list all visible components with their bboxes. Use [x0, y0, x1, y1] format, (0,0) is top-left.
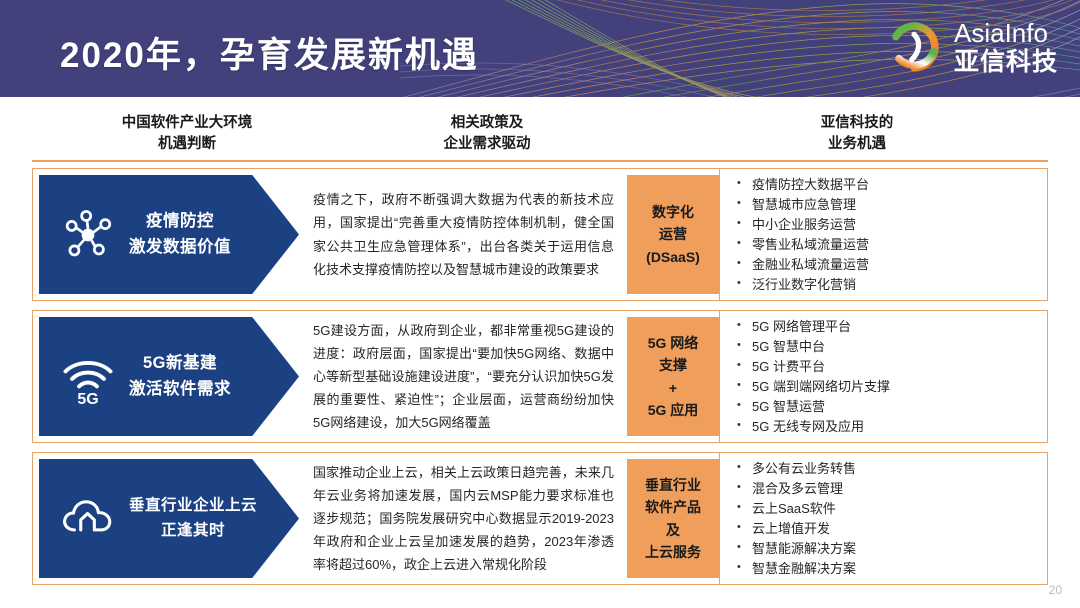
wifi-5g-icon: 5G [57, 346, 119, 408]
column-header-2: 相关政策及 企业需求驱动 [342, 113, 632, 155]
arrow-banner[interactable]: 疫情防控 激发数据价值 [39, 175, 299, 294]
opportunity-list-cell: 多公有云业务转售 混合及多云管理 云上SaaS软件 云上增值开发 智慧能源解决方… [719, 453, 1047, 584]
list-item: 中小企业服务运营 [736, 215, 1037, 235]
category-line: 垂直行业 [645, 474, 701, 496]
cloud-upload-icon [57, 488, 119, 550]
column-header-2-line2: 企业需求驱动 [342, 134, 632, 155]
list-item: 5G 端到端网络切片支撑 [736, 377, 1037, 397]
logo-name-cn: 亚信科技 [954, 50, 1058, 75]
arrow-label: 疫情防控 激发数据价值 [129, 209, 231, 260]
column-header-3-line1: 亚信科技的 [692, 113, 1022, 134]
category-line: 上云服务 [645, 541, 701, 563]
description-cell: 5G建设方面，从政府到企业，都非常重视5G建设的进度：政府层面，国家提出“要加快… [305, 311, 627, 442]
list-item: 智慧能源解决方案 [736, 539, 1037, 559]
list-item: 智慧城市应急管理 [736, 195, 1037, 215]
category-badge: 5G 网络 支撑 + 5G 应用 [627, 317, 719, 436]
category-line: 5G 网络 [648, 332, 699, 354]
arrow-label: 5G新基建 激活软件需求 [129, 351, 231, 402]
column-header-3-line2: 业务机遇 [692, 134, 1022, 155]
arrow-label-line2: 正逢其时 [129, 519, 257, 543]
opportunity-list-cell: 疫情防控大数据平台 智慧城市应急管理 中小企业服务运营 零售业私域流量运营 金融… [719, 169, 1047, 300]
list-item: 智慧金融解决方案 [736, 559, 1037, 579]
logo-name-en: AsiaInfo [954, 20, 1058, 46]
list-item: 5G 无线专网及应用 [736, 417, 1037, 437]
arrow-cell: 疫情防控 激发数据价值 [33, 169, 305, 300]
column-headers: 中国软件产业大环境 机遇判断 相关政策及 企业需求驱动 亚信科技的 业务机遇 [32, 113, 1048, 158]
opportunity-list: 多公有云业务转售 混合及多云管理 云上SaaS软件 云上增值开发 智慧能源解决方… [736, 459, 1037, 579]
page-title: 2020年，孕育发展新机遇 [60, 27, 479, 78]
arrow-label-line1: 疫情防控 [129, 209, 231, 235]
list-item: 5G 网络管理平台 [736, 317, 1037, 337]
description-cell: 国家推动企业上云，相关上云政策日趋完善，未来几年云业务将加速发展，国内云MSP能… [305, 453, 627, 584]
arrow-label-line1: 垂直行业企业上云 [129, 494, 257, 518]
arrow-cell: 垂直行业企业上云 正逢其时 [33, 453, 305, 584]
list-item: 5G 智慧中台 [736, 337, 1037, 357]
arrow-label: 垂直行业企业上云 正逢其时 [129, 494, 257, 542]
list-item: 疫情防控大数据平台 [736, 175, 1037, 195]
header-divider-rule [32, 160, 1048, 162]
opportunity-list-cell: 5G 网络管理平台 5G 智慧中台 5G 计费平台 5G 端到端网络切片支撑 5… [719, 311, 1047, 442]
category-line: 软件产品 [645, 496, 701, 518]
list-item: 泛行业数字化营销 [736, 275, 1037, 295]
column-header-1: 中国软件产业大环境 机遇判断 [42, 113, 332, 155]
list-item: 云上增值开发 [736, 519, 1037, 539]
list-item: 混合及多云管理 [736, 479, 1037, 499]
list-item: 零售业私域流量运营 [736, 235, 1037, 255]
arrow-banner[interactable]: 5G 5G新基建 激活软件需求 [39, 317, 299, 436]
category-line: + [648, 377, 699, 399]
arrow-label-line2: 激活软件需求 [129, 377, 231, 403]
arrow-cell: 5G 5G新基建 激活软件需求 [33, 311, 305, 442]
content-row: 垂直行业企业上云 正逢其时 国家推动企业上云，相关上云政策日趋完善，未来几年云业… [32, 452, 1048, 585]
arrow-label-line1: 5G新基建 [129, 351, 231, 377]
slide-header: 2020年，孕育发展新机遇 AsiaInfo 亚信科技 [0, 0, 1080, 97]
column-header-2-line1: 相关政策及 [342, 113, 632, 134]
list-item: 5G 智慧运营 [736, 397, 1037, 417]
column-header-3: 亚信科技的 业务机遇 [692, 113, 1022, 155]
list-item: 5G 计费平台 [736, 357, 1037, 377]
column-header-1-line1: 中国软件产业大环境 [42, 113, 332, 134]
network-nodes-icon [57, 204, 119, 266]
opportunity-list: 疫情防控大数据平台 智慧城市应急管理 中小企业服务运营 零售业私域流量运营 金融… [736, 175, 1037, 295]
category-line: (DSaaS) [646, 246, 700, 268]
category-line: 5G 应用 [648, 399, 699, 421]
arrow-banner[interactable]: 垂直行业企业上云 正逢其时 [39, 459, 299, 578]
description-text: 疫情之下，政府不断强调大数据为代表的新技术应用，国家提出“完善重大疫情防控体制机… [313, 188, 614, 281]
arrow-label-line2: 激发数据价值 [129, 235, 231, 261]
content-row: 疫情防控 激发数据价值 疫情之下，政府不断强调大数据为代表的新技术应用，国家提出… [32, 168, 1048, 301]
category-text: 垂直行业 软件产品 及 上云服务 [645, 474, 701, 564]
category-line: 数字化 [646, 201, 700, 223]
list-item: 金融业私域流量运营 [736, 255, 1037, 275]
category-line: 及 [645, 519, 701, 541]
category-text: 数字化 运营 (DSaaS) [646, 201, 700, 268]
list-item: 多公有云业务转售 [736, 459, 1037, 479]
svg-text:5G: 5G [77, 391, 98, 407]
category-text: 5G 网络 支撑 + 5G 应用 [648, 332, 699, 422]
description-cell: 疫情之下，政府不断强调大数据为代表的新技术应用，国家提出“完善重大疫情防控体制机… [305, 169, 627, 300]
page-number: 20 [1049, 583, 1062, 597]
content-row: 5G 5G新基建 激活软件需求 5G建设方面，从政府到企业，都非常重视5G建设的… [32, 310, 1048, 443]
description-text: 5G建设方面，从政府到企业，都非常重视5G建设的进度：政府层面，国家提出“要加快… [313, 319, 614, 435]
category-line: 运营 [646, 223, 700, 245]
category-line: 支撑 [648, 354, 699, 376]
opportunity-list: 5G 网络管理平台 5G 智慧中台 5G 计费平台 5G 端到端网络切片支撑 5… [736, 317, 1037, 437]
category-badge: 数字化 运营 (DSaaS) [627, 175, 719, 294]
description-text: 国家推动企业上云，相关上云政策日趋完善，未来几年云业务将加速发展，国内云MSP能… [313, 461, 614, 577]
category-badge: 垂直行业 软件产品 及 上云服务 [627, 459, 719, 578]
list-item: 云上SaaS软件 [736, 499, 1037, 519]
asiainfo-logo: AsiaInfo 亚信科技 [885, 18, 1058, 76]
asiainfo-ring-logo-icon [885, 18, 943, 76]
column-header-1-line2: 机遇判断 [42, 134, 332, 155]
